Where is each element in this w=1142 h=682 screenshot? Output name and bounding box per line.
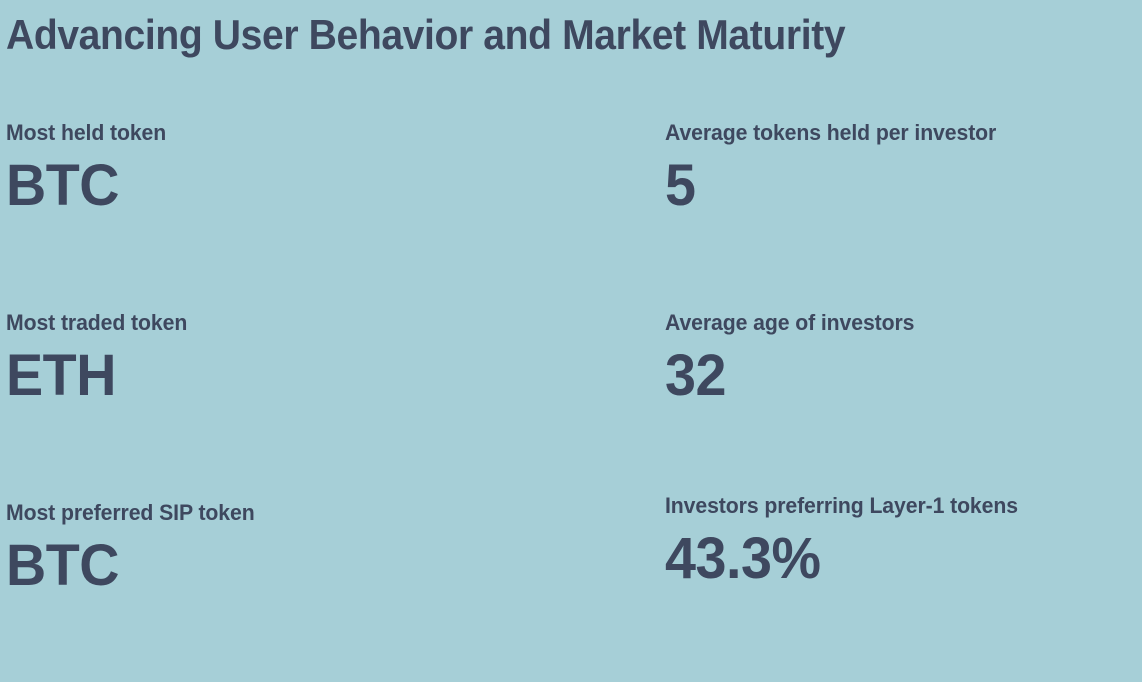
stat-card-average-tokens-held-per-investor: Average tokens held per investor 5 [665,120,1008,217]
stat-label: Investors preferring Layer-1 tokens [665,493,1018,518]
stat-label: Most held token [6,120,166,145]
slide-canvas: Advancing User Behavior and Market Matur… [0,0,1142,682]
stat-row: Most held token BTC Average tokens held … [0,120,1142,310]
stat-card-most-preferred-sip-token: Most preferred SIP token BTC [6,500,264,597]
stat-label: Most preferred SIP token [6,500,255,525]
stats-grid: Most held token BTC Average tokens held … [0,120,1142,670]
stat-label: Average tokens held per investor [665,120,996,145]
stat-label: Most traded token [6,310,187,335]
stat-label: Average age of investors [665,310,914,335]
stat-row: Most traded token ETH Average age of inv… [0,310,1142,500]
stat-value: 43.3% [665,529,1016,590]
stat-card-most-held-token: Most held token BTC [6,120,172,217]
stat-value: BTC [6,536,253,597]
stat-value: 5 [665,156,994,217]
stat-card-most-traded-token: Most traded token ETH [6,310,194,407]
stat-card-investors-preferring-layer-1-tokens: Investors preferring Layer-1 tokens 43.3… [665,493,1031,590]
stat-value: BTC [6,156,165,217]
stat-row: Most preferred SIP token BTC Investors p… [0,500,1142,670]
stat-value: ETH [6,346,186,407]
stat-value: 32 [665,346,913,407]
page-title: Advancing User Behavior and Market Matur… [6,12,845,58]
stat-card-average-age-of-investors: Average age of investors 32 [665,310,923,407]
